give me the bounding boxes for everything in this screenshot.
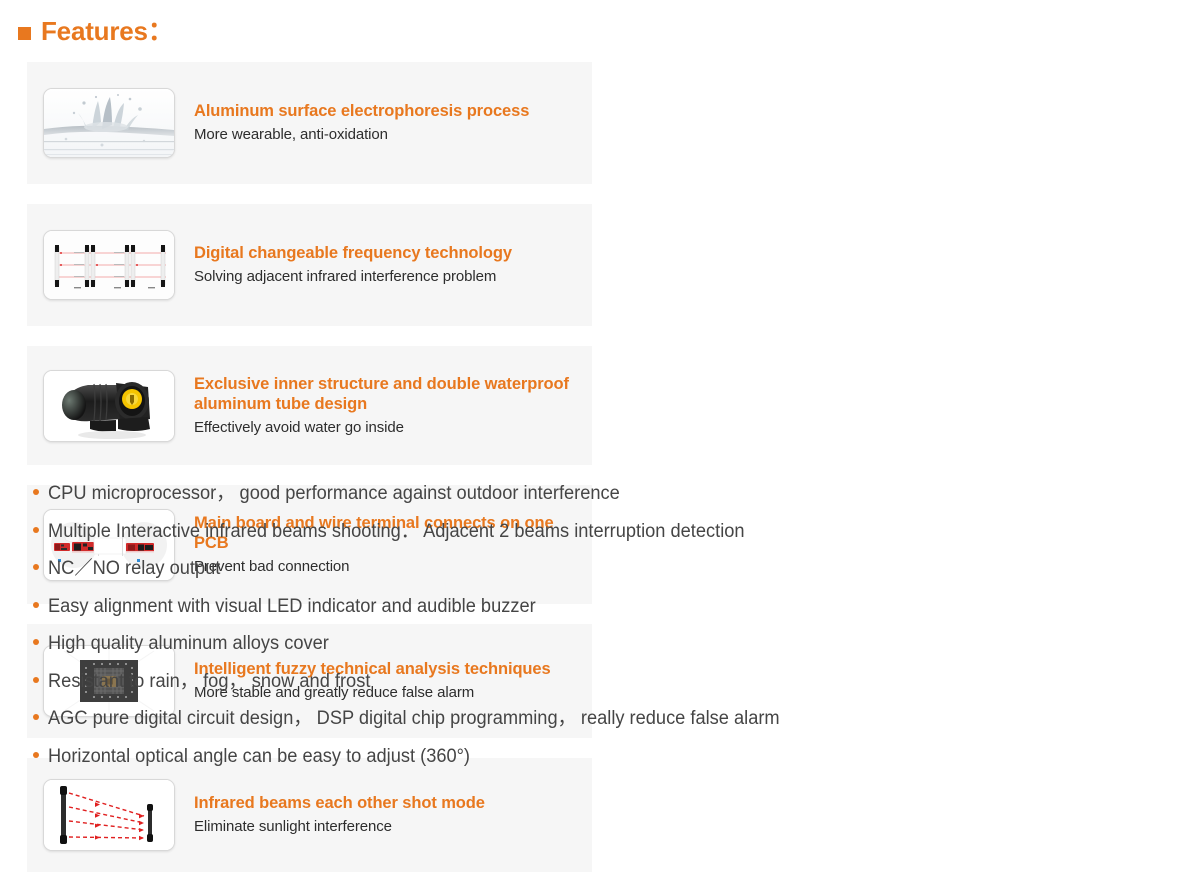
aluminum-tube-photo [43, 370, 175, 442]
feature-card: Exclusive inner structure and double wat… [27, 346, 592, 465]
specification-list: CPU microprocessor， good performance aga… [33, 482, 1173, 782]
bullet-dot-icon [33, 752, 39, 758]
list-item: CPU microprocessor， good performance aga… [33, 482, 1173, 520]
bullet-dot-icon [33, 489, 39, 495]
orange-square-icon [18, 27, 31, 40]
list-item: AGC pure digital circuit design， DSP dig… [33, 707, 1173, 745]
list-item: NC／NO relay output [33, 557, 1173, 595]
water-splash-photo [43, 88, 175, 158]
feature-card-subtitle: Effectively avoid water go inside [194, 418, 576, 438]
tube-art [44, 371, 174, 441]
infrared-beam-posts-diagram [43, 230, 175, 300]
feature-card-title: Digital changeable frequency technology [194, 243, 512, 263]
list-item-label: CPU microprocessor， good performance aga… [48, 482, 620, 506]
bullet-dot-icon [33, 527, 39, 533]
beams-art [44, 780, 174, 850]
list-item: Easy alignment with visual LED indicator… [33, 595, 1173, 633]
feature-card: Digital changeable frequency technology … [27, 204, 592, 326]
list-item-label: Easy alignment with visual LED indicator… [48, 595, 536, 619]
list-item: High quality aluminum alloys cover [33, 632, 1173, 670]
list-item: Multiple Interactive infrared beams shoo… [33, 520, 1173, 558]
water-splash-art [44, 89, 174, 157]
feature-card-title: Exclusive inner structure and double wat… [194, 374, 576, 414]
bullet-dot-icon [33, 602, 39, 608]
feature-card-title: Infrared beams each other shot mode [194, 793, 485, 813]
bullet-dot-icon [33, 564, 39, 570]
page-title: Features： [18, 18, 174, 44]
features-heading-text: Features： [41, 18, 174, 44]
feature-card-text: Infrared beams each other shot mode Elim… [194, 793, 485, 837]
list-item: Horizontal optical angle can be easy to … [33, 745, 1173, 783]
list-item-label: Resistant to rain， fog， snow and frost [48, 670, 370, 694]
feature-card-subtitle: More wearable, anti-oxidation [194, 125, 529, 145]
feature-card-subtitle: Solving adjacent infrared interference p… [194, 267, 512, 287]
list-item-label: Horizontal optical angle can be easy to … [48, 745, 470, 769]
feature-card-text: Digital changeable frequency technology … [194, 243, 512, 287]
beam-posts-art [44, 231, 174, 299]
feature-card-text: Aluminum surface electrophoresis process… [194, 101, 529, 145]
bullet-dot-icon [33, 639, 39, 645]
feature-card-title: Aluminum surface electrophoresis process [194, 101, 529, 121]
feature-card-subtitle: Eliminate sunlight interference [194, 817, 485, 837]
feature-card-text: Exclusive inner structure and double wat… [194, 374, 576, 438]
list-item-label: AGC pure digital circuit design， DSP dig… [48, 707, 780, 731]
bullet-dot-icon [33, 714, 39, 720]
list-item-label: High quality aluminum alloys cover [48, 632, 329, 656]
list-item-label: NC／NO relay output [48, 557, 220, 581]
bullet-dot-icon [33, 677, 39, 683]
list-item-label: Multiple Interactive infrared beams shoo… [48, 520, 745, 544]
feature-card: Aluminum surface electrophoresis process… [27, 62, 592, 184]
list-item: Resistant to rain， fog， snow and frost [33, 670, 1173, 708]
crossed-beams-diagram [43, 779, 175, 851]
features-page: Features： [0, 0, 1200, 775]
